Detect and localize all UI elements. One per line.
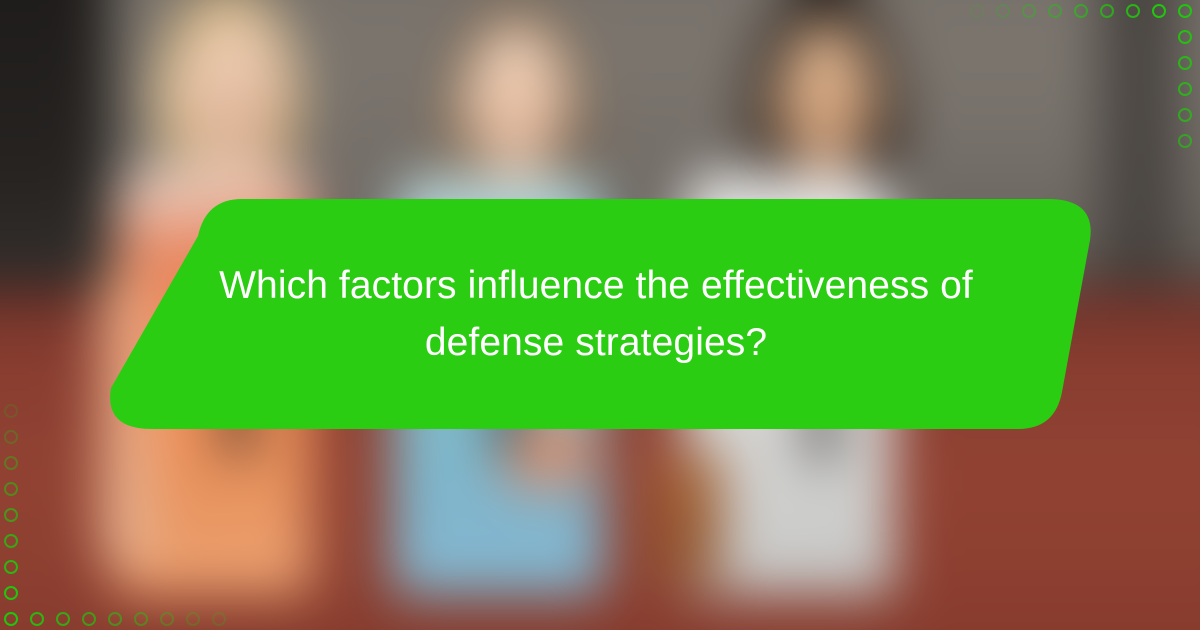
decorative-dot [134,612,148,626]
decorative-dot [160,612,174,626]
decorative-dot [996,4,1010,18]
decorative-dot [4,430,18,444]
question-banner: Which factors influence the effectivenes… [90,196,1102,432]
decorative-dot [1178,82,1192,96]
decorative-dot [1100,4,1114,18]
decorative-dot [1178,134,1192,148]
decorative-dot [1178,56,1192,70]
decorative-dot [212,612,226,626]
decorative-dot [1178,4,1192,18]
question-text: Which factors influence the effectivenes… [210,196,982,432]
decorative-dot [186,612,200,626]
decorative-dot [1178,30,1192,44]
decorative-dot [82,612,96,626]
decorative-dot [1022,4,1036,18]
decorative-dot [1048,4,1062,18]
decorative-dot [30,612,44,626]
decorative-dot [4,560,18,574]
decorative-dot [56,612,70,626]
person-right-bag [656,452,722,582]
poster-canvas: Which factors influence the effectivenes… [0,0,1200,630]
decorative-dot [4,508,18,522]
decorative-dot [4,586,18,600]
decorative-dot [1074,4,1088,18]
decorative-dot [4,456,18,470]
decorative-dot [1126,4,1140,18]
decorative-dot [1178,108,1192,122]
decorative-dot [970,4,984,18]
decorative-dot [1152,4,1166,18]
decorative-dot [4,612,18,626]
decorative-dot [108,612,122,626]
decorative-dot [4,482,18,496]
decorative-dot [4,404,18,418]
decorative-dot [4,534,18,548]
